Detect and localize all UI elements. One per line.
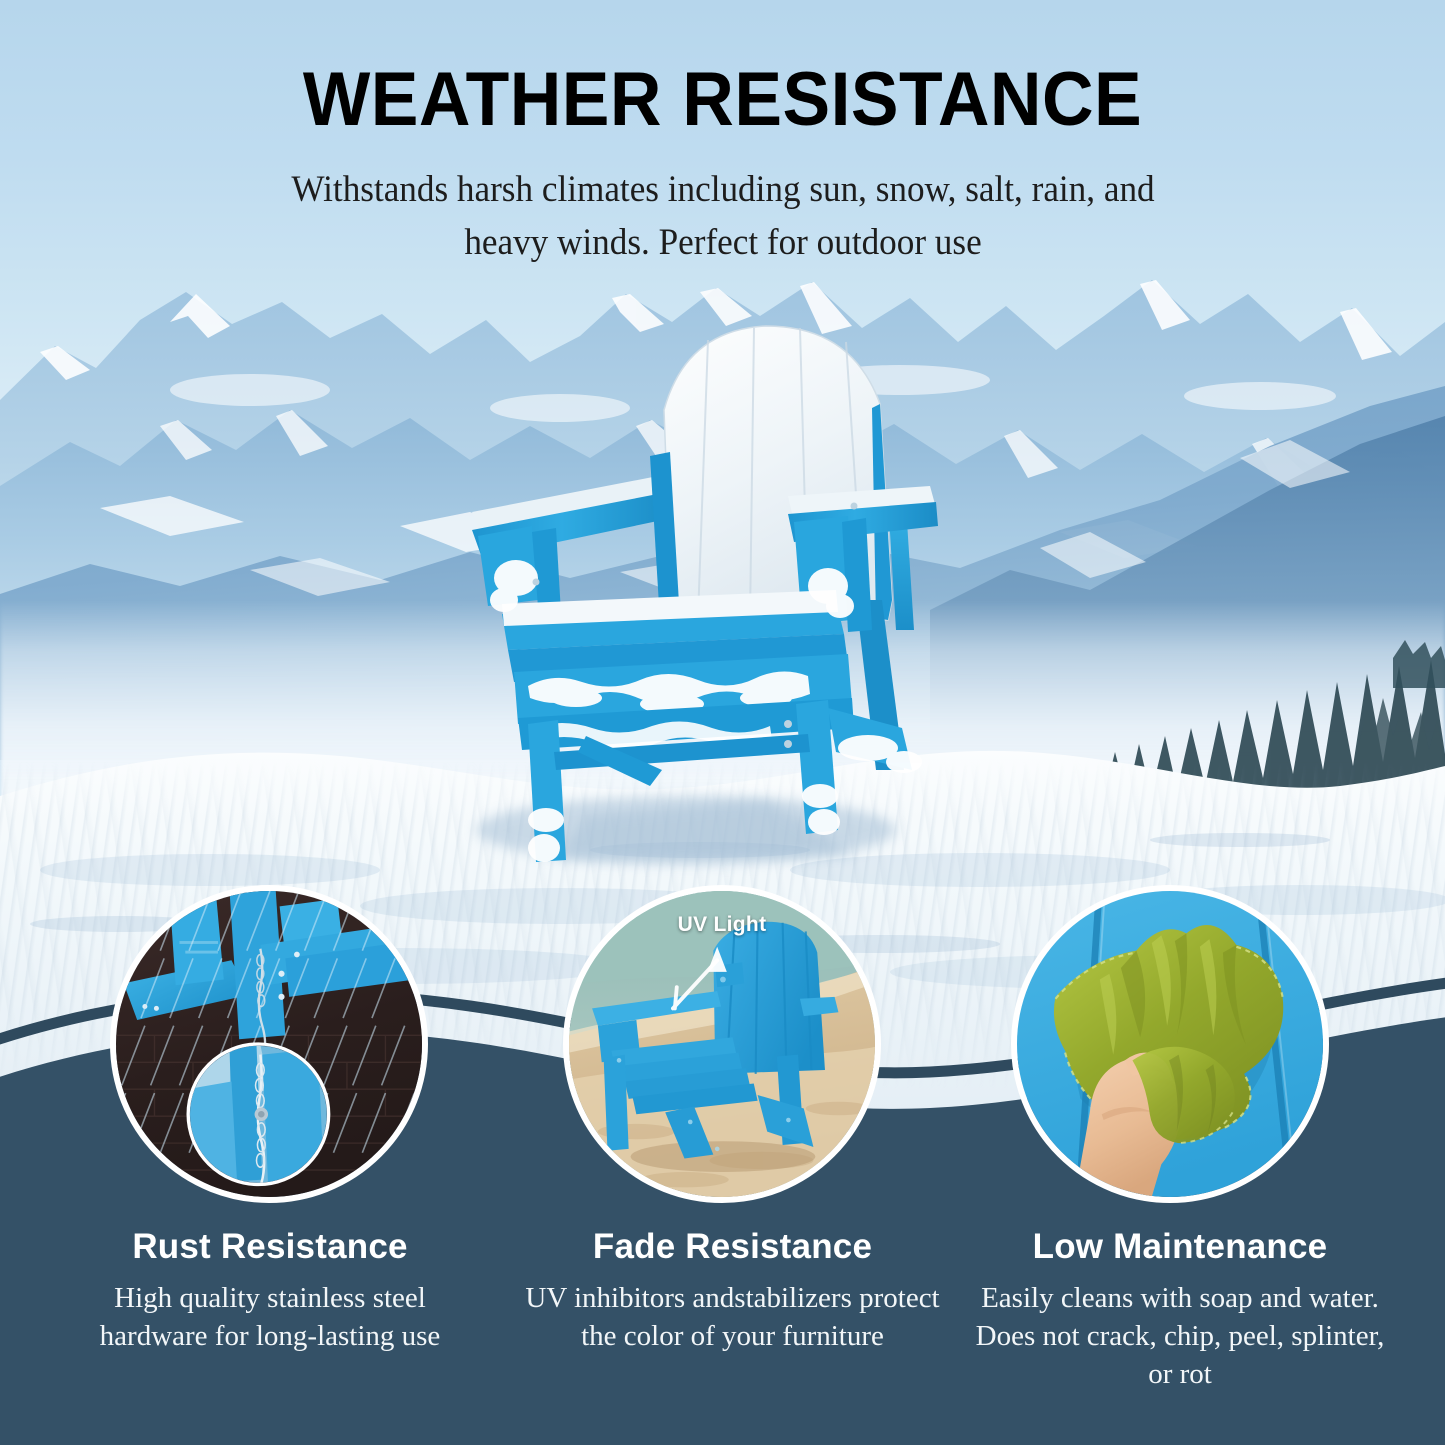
- caption-body: High quality stainless steel hardware fo…: [85, 1279, 455, 1356]
- feature-circle-fade-resistance[interactable]: UV Light: [563, 885, 881, 1203]
- feature-image-circles: UV Light: [0, 885, 1445, 1225]
- feature-captions: Rust Resistance High quality stainless s…: [0, 1228, 1445, 1428]
- rust-resistance-photo: [116, 891, 422, 1197]
- header-block: WEATHER RESISTANCE Withstands harsh clim…: [0, 62, 1445, 269]
- caption-body: Easily cleans with soap and water. Does …: [975, 1279, 1385, 1394]
- caption-title: Rust Resistance: [85, 1228, 455, 1267]
- page-subtitle: Withstands harsh climates including sun,…: [267, 164, 1179, 269]
- feature-circle-low-maintenance[interactable]: [1011, 885, 1329, 1203]
- low-maintenance-photo: [1017, 891, 1323, 1197]
- caption-rust-resistance: Rust Resistance High quality stainless s…: [85, 1228, 455, 1355]
- uv-light-label: UV Light: [569, 913, 875, 937]
- caption-fade-resistance: Fade Resistance UV inhibitors andstabili…: [520, 1228, 945, 1355]
- caption-title: Low Maintenance: [975, 1228, 1385, 1267]
- feature-circle-rust-resistance[interactable]: [110, 885, 428, 1203]
- hero-product-chair: [436, 300, 946, 880]
- caption-low-maintenance: Low Maintenance Easily cleans with soap …: [975, 1228, 1385, 1393]
- caption-body: UV inhibitors andstabilizers protect the…: [520, 1279, 945, 1356]
- page-title: WEATHER RESISTANCE: [43, 62, 1401, 138]
- weather-resistance-infographic: WEATHER RESISTANCE Withstands harsh clim…: [0, 0, 1445, 1445]
- caption-title: Fade Resistance: [520, 1228, 945, 1267]
